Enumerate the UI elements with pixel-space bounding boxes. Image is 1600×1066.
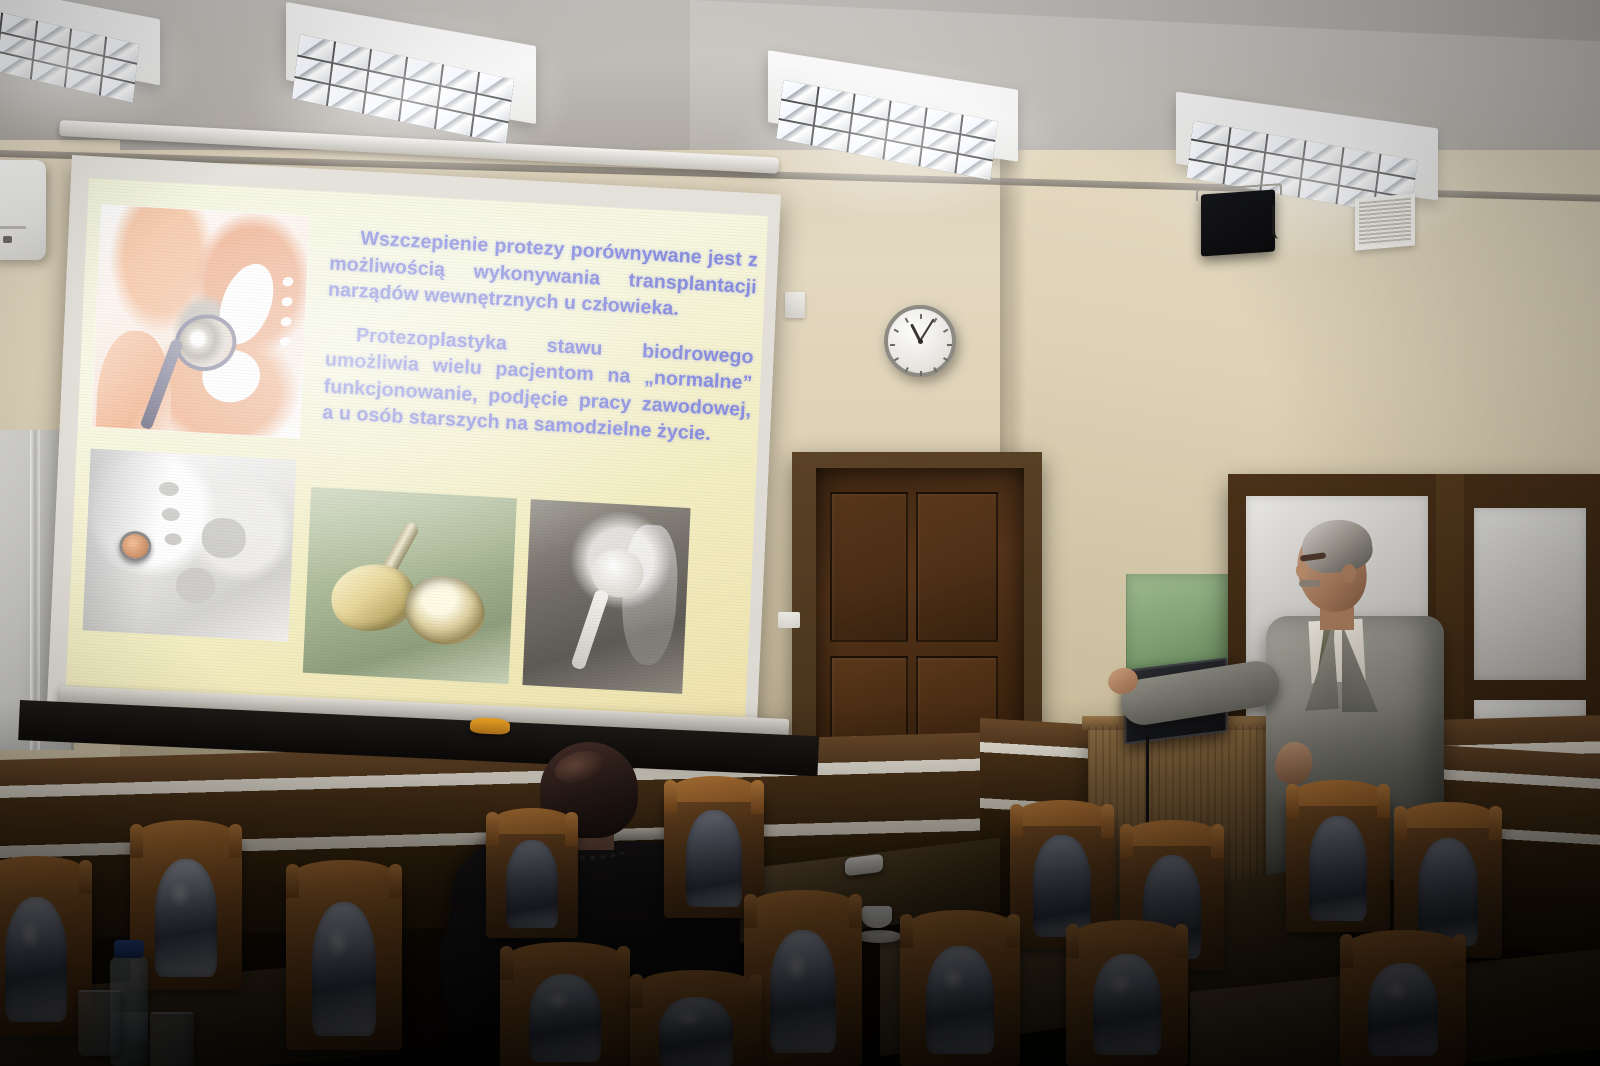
clock-minute-hand [919, 318, 934, 341]
hip-xray [522, 499, 690, 694]
ventilation-grille [1355, 193, 1415, 250]
chair-front-3[interactable] [630, 980, 762, 1066]
ac-vent-icon [0, 226, 26, 229]
projection-screen: Wszczepienie protezy porównywane jest z … [47, 155, 781, 754]
slide-paragraph-1: Wszczepienie protezy porównywane jest z … [328, 224, 759, 327]
chair-mid-4[interactable] [900, 920, 1020, 1066]
chair-back-1[interactable] [486, 818, 578, 938]
speaker-cable [1272, 205, 1282, 240]
lecture-hall-photo: Wszczepienie protezy porównywane jest z … [0, 0, 1600, 1066]
slide-paragraph-2: Protezoplastyka stawu biodrowego umożliw… [322, 320, 754, 450]
chair-mid-5[interactable] [1066, 930, 1188, 1066]
chair-front-2[interactable] [500, 952, 630, 1066]
implant-components-photo [303, 487, 517, 684]
pelvis-3d-render [82, 448, 296, 641]
green-tile-panel [1126, 574, 1230, 670]
drinking-glass-1[interactable] [78, 990, 122, 1056]
wall-clock [884, 305, 956, 377]
chair-back-5[interactable] [1286, 790, 1390, 932]
coffee-cup [862, 906, 892, 928]
ledge-object [470, 717, 511, 735]
presentation-slide: Wszczepienie protezy porównywane jest z … [66, 178, 768, 723]
light-switch[interactable] [785, 292, 805, 318]
anatomy-illustration [92, 205, 310, 438]
coffee-saucer [856, 930, 902, 943]
clock-center-pin [918, 339, 923, 344]
wall-socket [778, 612, 800, 628]
bottle-cap [114, 940, 144, 958]
ac-led-icon [3, 236, 12, 243]
wall-speaker [1201, 189, 1275, 256]
slide-body-text: Wszczepienie protezy porównywane jest z … [322, 224, 759, 450]
air-conditioner [0, 160, 46, 260]
chair-mid-6[interactable] [1340, 940, 1466, 1066]
drinking-glass-2[interactable] [150, 1012, 194, 1066]
chair-mid-2[interactable] [286, 870, 402, 1050]
